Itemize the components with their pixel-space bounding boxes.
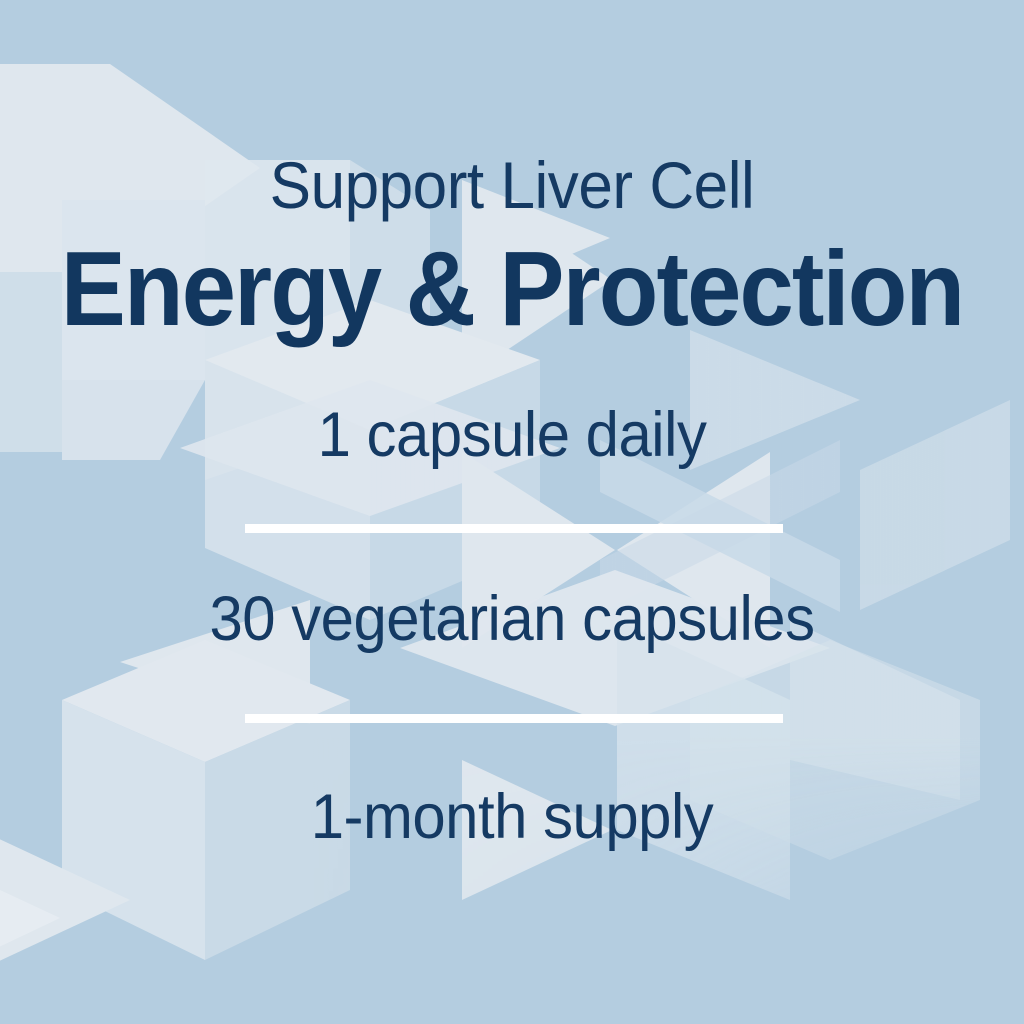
headline-eyebrow: Support Liver Cell (31, 152, 994, 218)
card-content: Support Liver Cell Energy & Protection 1… (0, 0, 1024, 1024)
headline-hero: Energy & Protection (41, 236, 983, 342)
divider-above-supply (245, 714, 783, 723)
product-benefit-card: Support Liver Cell Energy & Protection 1… (0, 0, 1024, 1024)
divider-above-capsule-count (245, 524, 783, 533)
fact-dosage: 1 capsule daily (26, 404, 999, 467)
fact-capsule-count: 30 vegetarian capsules (26, 588, 999, 651)
fact-supply-duration: 1-month supply (26, 786, 999, 849)
